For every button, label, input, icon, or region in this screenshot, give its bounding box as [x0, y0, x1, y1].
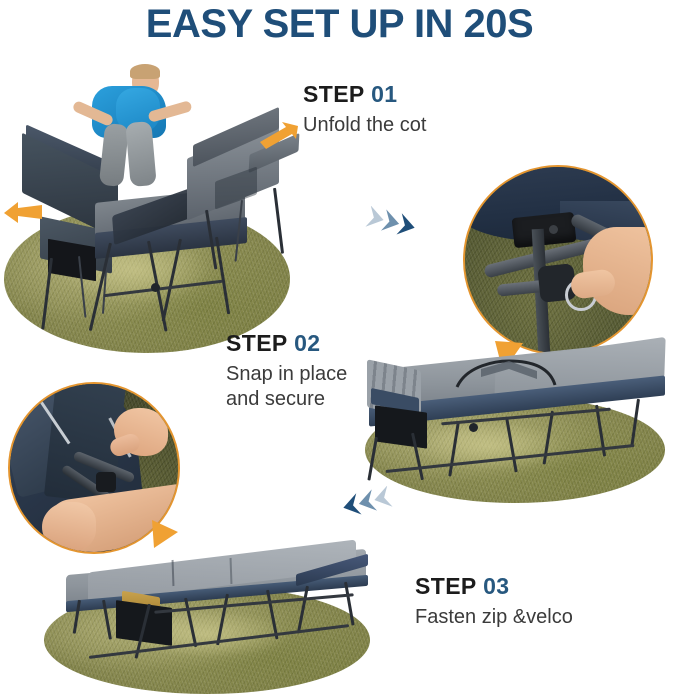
step-02-heading: STEP 02: [226, 331, 347, 356]
step-03-text: STEP 03 Fasten zip &velco: [415, 574, 573, 630]
callout-snap-detail: [463, 165, 653, 355]
step-03-description: Fasten zip &velco: [415, 605, 573, 629]
person-unfolding-cot: [80, 66, 220, 216]
callout-snap-circle: [463, 165, 653, 355]
page-title: EASY SET UP IN 20S: [0, 2, 679, 47]
photo-step-01: [0, 60, 300, 350]
chevron-group-left: [330, 486, 396, 530]
step-01-number: 01: [371, 81, 397, 107]
step-02-description: Snap in place and secure: [226, 362, 347, 411]
infographic-canvas: EASY SET UP IN 20S: [0, 0, 679, 693]
step-03-heading: STEP 03: [415, 574, 573, 599]
cot-assembled-2: [345, 345, 675, 485]
step-03-label: STEP: [415, 573, 476, 599]
step-02-label: STEP: [226, 330, 287, 356]
chevron-group-right: [362, 206, 428, 250]
step-01-text: STEP 01 Unfold the cot: [303, 82, 426, 138]
callout-zip-detail: [8, 382, 180, 554]
step-02-text: STEP 02 Snap in place and secure: [226, 331, 347, 411]
photo-step-02: [345, 335, 675, 505]
step-01-label: STEP: [303, 81, 364, 107]
step-02-number: 02: [294, 330, 320, 356]
arrow-left-orange: [2, 198, 44, 226]
cot-assembled-3: [44, 548, 384, 678]
photo-step-03: [18, 548, 408, 693]
arrow-right-orange: [256, 120, 300, 150]
step-01-heading: STEP 01: [303, 82, 426, 107]
step-01-description: Unfold the cot: [303, 113, 426, 137]
step-03-number: 03: [483, 573, 509, 599]
callout-zip-pointer: [148, 518, 180, 550]
